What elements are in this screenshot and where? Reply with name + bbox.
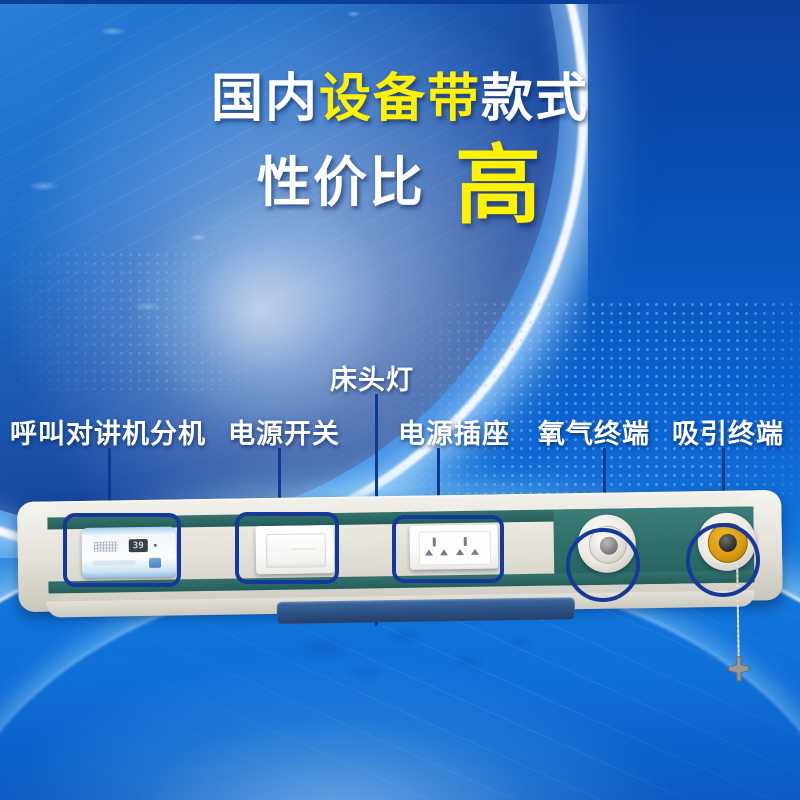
halftone-dots-left bbox=[0, 250, 300, 390]
callout-label-bedside-lamp: 床头灯 bbox=[330, 358, 414, 397]
socket-pin-4 bbox=[471, 549, 479, 555]
headline-line-2: 性价比高 bbox=[0, 141, 800, 231]
oxygen-terminal-ring bbox=[589, 525, 628, 564]
speaker-grille-icon bbox=[94, 541, 118, 551]
socket-faceplate bbox=[419, 531, 492, 566]
poster-canvas: 国内设备带款式 性价比高 呼叫对讲机分机 电源开关 床头灯 电源插座 氧气终端 … bbox=[0, 0, 800, 800]
callout-label-oxygen-terminal: 氧气终端 bbox=[538, 412, 650, 451]
pull-cord-handle[interactable] bbox=[725, 654, 753, 682]
headline-text-value-ratio: 性价比 bbox=[257, 153, 425, 213]
power-switch[interactable] bbox=[256, 525, 335, 574]
callout-label-suction-terminal: 吸引终端 bbox=[672, 412, 784, 451]
medical-bed-head-unit: 39 bbox=[17, 490, 783, 622]
panel-bumper-strip bbox=[277, 597, 575, 624]
callout-label-power-socket: 电源插座 bbox=[398, 412, 510, 451]
headline-text-style: 款式 bbox=[481, 70, 589, 128]
socket-pin-2 bbox=[440, 549, 448, 555]
power-socket[interactable] bbox=[410, 524, 499, 569]
switch-rocker-line bbox=[291, 548, 315, 549]
socket-slot-left-a bbox=[433, 537, 436, 546]
callout-label-power-switch: 电源开关 bbox=[228, 412, 340, 451]
socket-slot-right-a bbox=[464, 537, 467, 546]
switch-rocker[interactable] bbox=[266, 533, 327, 568]
socket-pin-1 bbox=[425, 549, 433, 555]
headline-block: 国内设备带款式 性价比高 bbox=[0, 72, 800, 231]
headline-line-1: 国内设备带款式 bbox=[0, 72, 800, 127]
intercom-indicator-led bbox=[154, 544, 157, 547]
headline-text-equipment-belt: 设备带 bbox=[319, 70, 481, 128]
socket-pin-3 bbox=[456, 549, 464, 555]
intercom-label-slot bbox=[92, 560, 136, 566]
halftone-dots-right bbox=[400, 300, 800, 500]
callout-label-intercom: 呼叫对讲机分机 bbox=[10, 412, 206, 451]
oxygen-terminal-port bbox=[600, 537, 618, 555]
nurse-call-intercom-unit[interactable]: 39 bbox=[82, 527, 177, 578]
suction-terminal-port bbox=[719, 534, 737, 552]
top-edge-bar bbox=[0, 0, 800, 4]
intercom-call-button[interactable] bbox=[149, 558, 161, 568]
headline-text-high: 高 bbox=[455, 138, 543, 234]
headline-text-domestic: 国内 bbox=[211, 70, 319, 128]
suction-terminal-ring bbox=[708, 523, 749, 564]
intercom-display: 39 bbox=[129, 539, 148, 552]
